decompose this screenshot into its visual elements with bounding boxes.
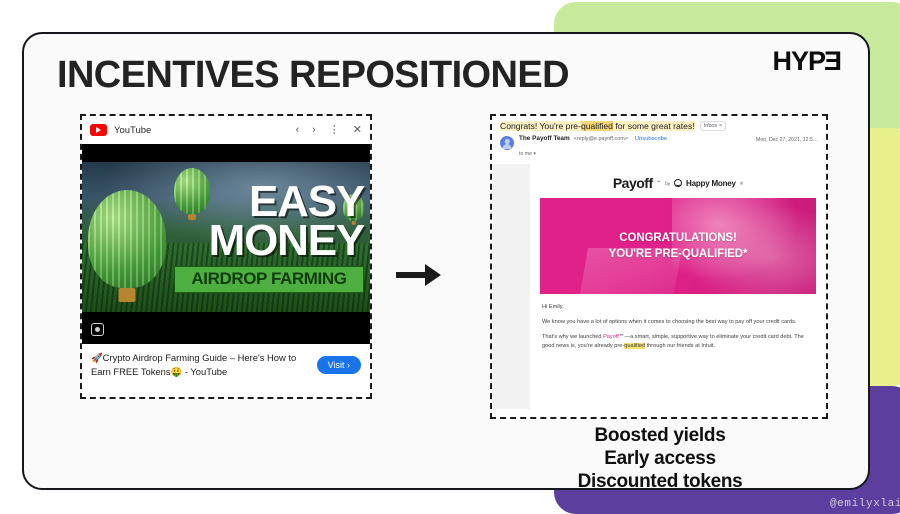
thumbnail-headline-line2: MONEY (209, 221, 364, 261)
hot-air-balloon-medium (174, 168, 210, 214)
happy-money-icon (674, 179, 682, 187)
youtube-controls: ‹ › ⋮ ✕ (295, 125, 362, 136)
hype-logo-tail: E (825, 46, 842, 77)
thumbnail-artwork: EASY MONEY AIRDROP FARMING (82, 162, 370, 312)
sender-name: The Payoff Team (519, 135, 570, 142)
by-label: by (665, 181, 670, 186)
youtube-label: YouTube (114, 125, 151, 136)
thumbnail-banner: AIRDROP FARMING (174, 266, 364, 293)
watermark: @emilyxlai (830, 498, 900, 510)
recipient-label[interactable]: to me ▾ (519, 151, 536, 157)
video-title: 🚀Crypto Airdrop Farming Guide – Here's H… (91, 351, 309, 378)
benefit-item: Early access (490, 447, 830, 470)
sender-avatar-icon (500, 136, 514, 150)
page-title: INCENTIVES REPOSITIONED (57, 54, 569, 97)
forward-icon[interactable]: › (312, 125, 316, 136)
email-hero-banner: CONGRATULATIONS! YOU'RE PRE-QUALIFIED* (540, 198, 816, 294)
benefit-item: Boosted yields (490, 424, 830, 447)
benefits-list: Boosted yields Early access Discounted t… (490, 424, 830, 490)
email-body: Payoff ℠ by Happy Money ® CONGRATULATION… (492, 164, 826, 409)
payoff-logo: Payoff ℠ by Happy Money ® (540, 172, 816, 198)
benefit-item: Discounted tokens (490, 470, 830, 490)
email-subject: Congrats! You're pre-qualified for some … (500, 121, 695, 131)
email-paragraph-1: We know you have a lot of options when i… (542, 318, 814, 327)
email-content: Payoff ℠ by Happy Money ® CONGRATULATION… (530, 164, 826, 409)
hero-headline: CONGRATULATIONS! YOU'RE PRE-QUALIFIED* (540, 231, 816, 262)
email-screenshot: Congrats! You're pre-qualified for some … (490, 114, 828, 419)
email-paragraphs: Hi Emily, We know you have a lot of opti… (540, 294, 816, 351)
email-date: Mon, Dec 27, 2021, 12:5… (756, 135, 818, 143)
email-subject-row: Congrats! You're pre-qualified for some … (492, 116, 826, 133)
sender-block: The Payoff Team <reply@e.payoff.com> Uns… (519, 135, 751, 160)
hype-logo: HYPE (772, 46, 842, 77)
slide-card: INCENTIVES REPOSITIONED HYPE YouTube ‹ ›… (22, 32, 870, 490)
hero-line-2: YOU'RE PRE-QUALIFIED* (540, 247, 816, 263)
happy-money-wordmark: Happy Money (686, 179, 736, 188)
email-greeting: Hi Emily, (542, 303, 814, 312)
payoff-wordmark: Payoff (613, 175, 653, 191)
unsubscribe-link[interactable]: Unsubscribe (635, 136, 667, 142)
sender-address: <reply@e.payoff.com> (574, 136, 628, 142)
payoff-servicemark: ℠ (657, 180, 662, 186)
hero-line-1: CONGRATULATIONS! (540, 231, 816, 247)
menu-icon[interactable]: ⋮ (329, 125, 340, 136)
happy-money-registered: ® (740, 181, 743, 186)
right-arrow-icon (396, 262, 442, 288)
google-lens-icon[interactable] (91, 323, 104, 336)
inbox-chip: Inbox × (700, 121, 727, 131)
hype-logo-head: HYP (772, 46, 825, 77)
youtube-play-icon (90, 124, 107, 136)
email-paragraph-2: That's why we launched Payoff℠—a smart, … (542, 333, 814, 351)
youtube-browser-bar: YouTube ‹ › ⋮ ✕ (82, 116, 370, 144)
back-icon[interactable]: ‹ (295, 125, 299, 136)
hot-air-balloon-large (88, 190, 166, 288)
youtube-screenshot: YouTube ‹ › ⋮ ✕ EASY MONEY AIRDROP FARMI… (80, 114, 372, 399)
close-icon[interactable]: ✕ (353, 125, 362, 136)
video-thumbnail[interactable]: EASY MONEY AIRDROP FARMING (82, 144, 370, 344)
email-sender-row: The Payoff Team <reply@e.payoff.com> Uns… (492, 133, 826, 164)
visit-button[interactable]: Visit › (317, 356, 361, 374)
youtube-caption-row: 🚀Crypto Airdrop Farming Guide – Here's H… (82, 344, 370, 386)
